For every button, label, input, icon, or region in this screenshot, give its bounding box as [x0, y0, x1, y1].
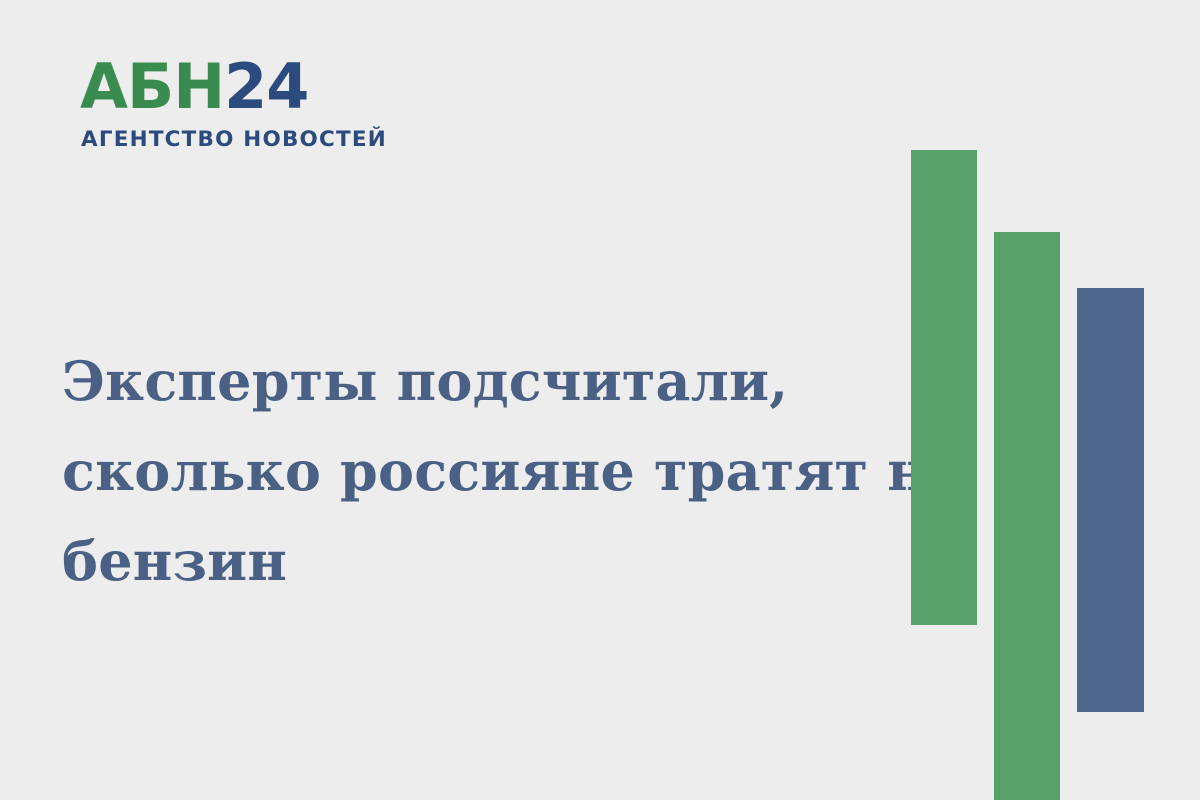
headline-line-1: Эксперты подсчитали,	[62, 336, 882, 426]
headline-line-3: бензин	[62, 516, 882, 606]
news-card: АБН24 АГЕНТСТВО НОВОСТЕЙ Эксперты подсчи…	[0, 0, 1200, 800]
bar-1	[911, 150, 977, 625]
bar-2	[994, 232, 1060, 800]
headline-line-2: сколько россияне тратят на	[62, 426, 882, 516]
logo-wordmark-primary: АБН	[80, 50, 224, 123]
logo-tagline: АГЕНТСТВО НОВОСТЕЙ	[81, 127, 387, 152]
brand-logo[interactable]: АБН24 АГЕНТСТВО НОВОСТЕЙ	[80, 58, 380, 160]
logo-wordmark: АБН24	[80, 58, 308, 116]
page-title: Эксперты подсчитали, сколько россияне тр…	[62, 336, 882, 606]
bar-3	[1077, 288, 1144, 712]
logo-wordmark-accent: 24	[224, 50, 308, 123]
